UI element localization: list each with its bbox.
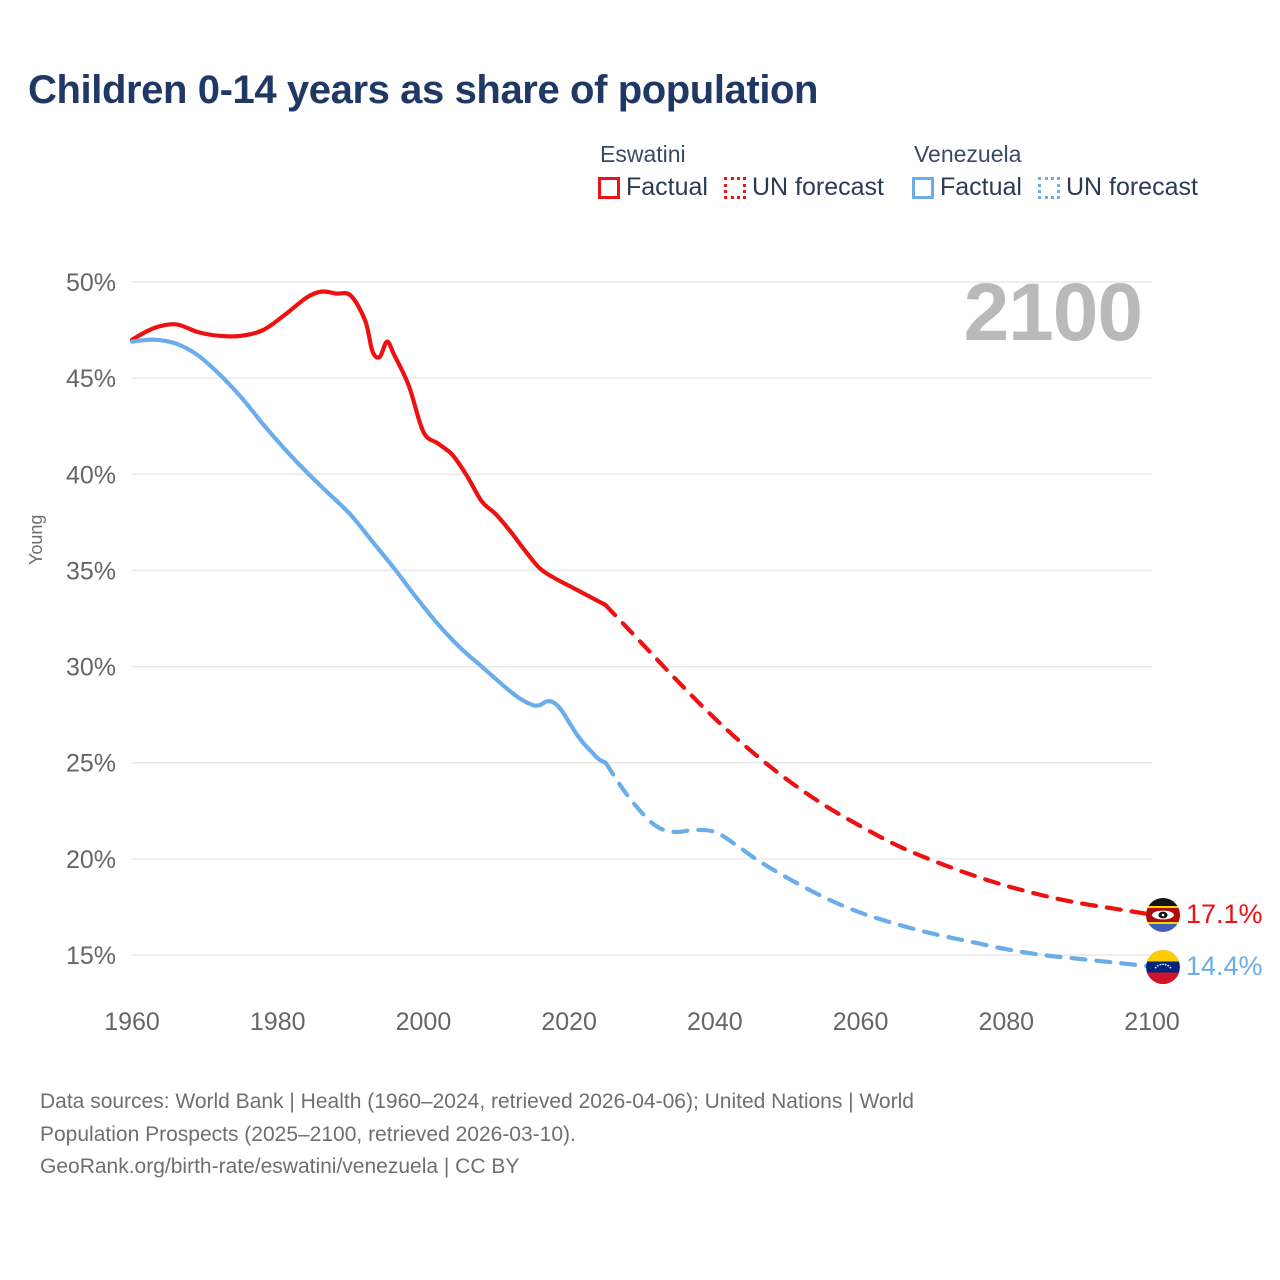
footer-sources: Data sources: World Bank | Health (1960–… [40,1086,1220,1184]
line-eswatini-forecast [606,605,1152,915]
end-label-value: 17.1% [1186,899,1263,930]
footer-line-1: Data sources: World Bank | Health (1960–… [40,1086,1220,1119]
y-axis-tick-label: 50% [66,269,116,297]
end-label-eswatini: 17.1% [1146,898,1263,932]
footer-line-3: GeoRank.org/birth-rate/eswatini/venezuel… [40,1151,1220,1184]
x-axis-tick-label: 1980 [250,1008,306,1036]
flag-venezuela-icon [1146,950,1180,984]
series-lines [132,291,1152,966]
y-axis-tick-labels: 15%20%25%30%35%40%45%50% [66,269,116,970]
x-axis-tick-label: 2100 [1124,1008,1180,1036]
gridlines [132,282,1152,955]
x-axis-tick-label: 1960 [104,1008,160,1036]
line-venezuela-factual [132,340,606,763]
chart-container: Children 0-14 years as share of populati… [0,0,1280,1280]
y-axis-tick-label: 30% [66,654,116,682]
x-axis-tick-label: 2040 [687,1008,743,1036]
end-label-venezuela: 14.4% [1146,950,1263,984]
x-axis-tick-label: 2020 [541,1008,597,1036]
y-axis-tick-label: 35% [66,557,116,585]
x-axis-tick-label: 2060 [833,1008,889,1036]
end-label-value: 14.4% [1186,951,1263,982]
x-axis-tick-label: 2000 [396,1008,452,1036]
y-axis-tick-label: 20% [66,846,116,874]
y-axis-tick-label: 15% [66,942,116,970]
x-axis-tick-labels: 19601980200020202040206020802100 [104,1008,1180,1036]
x-axis-tick-label: 2080 [978,1008,1034,1036]
y-axis-tick-label: 45% [66,365,116,393]
plot-area: 15%20%25%30%35%40%45%50% 196019802000202… [0,0,1280,1060]
flag-eswatini-icon [1146,898,1180,932]
line-eswatini-factual [132,291,606,605]
line-venezuela-forecast [606,763,1152,967]
footer-line-2: Population Prospects (2025–2100, retriev… [40,1119,1220,1152]
y-axis-tick-label: 25% [66,750,116,778]
y-axis-tick-label: 40% [66,461,116,489]
